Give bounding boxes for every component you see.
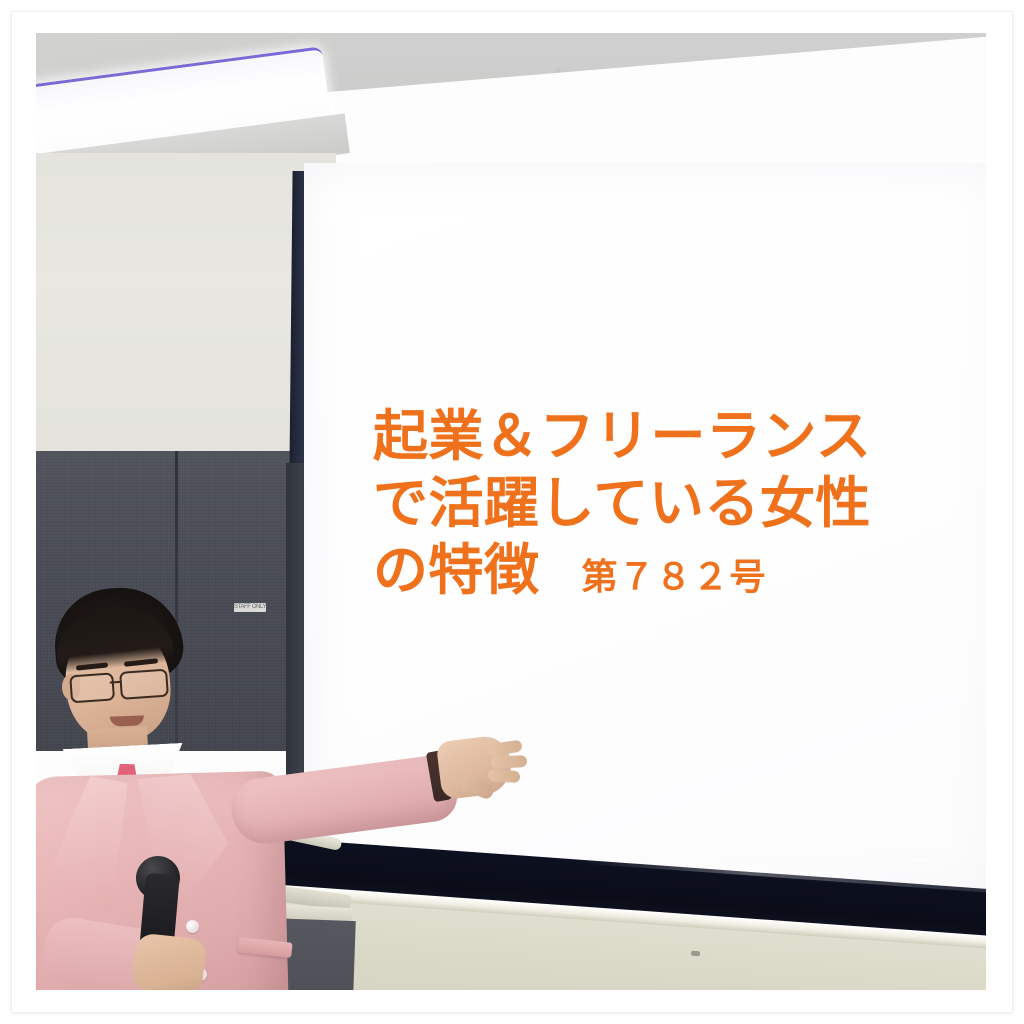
seminar-photo: STAFF ONLY STAFF ONLY — [36, 33, 986, 990]
caption-overlay: 起業＆フリーランス で活躍している女性 の特徴 第７８２号 — [373, 403, 986, 611]
caption-line-3-row: の特徴 第７８２号 — [373, 537, 986, 611]
jacket-button — [186, 920, 199, 933]
glasses-lens-right — [119, 669, 169, 700]
glasses-icon — [69, 669, 169, 702]
presenter-extended-arm — [228, 753, 461, 848]
glasses-lens-left — [69, 672, 115, 703]
cabinet-screw — [691, 951, 700, 957]
image-canvas: STAFF ONLY STAFF ONLY — [0, 0, 1024, 1024]
issue-number: 第７８２号 — [582, 544, 767, 611]
caption-line-2: で活躍している女性 — [373, 470, 986, 537]
caption-line-3: の特徴 — [373, 537, 540, 604]
presenter-finger — [491, 755, 528, 769]
presenter-mic-hand — [131, 933, 207, 990]
caption-line-1: 起業＆フリーランス — [373, 403, 986, 470]
presenter-finger — [488, 769, 521, 783]
presenter-figure — [36, 588, 456, 990]
